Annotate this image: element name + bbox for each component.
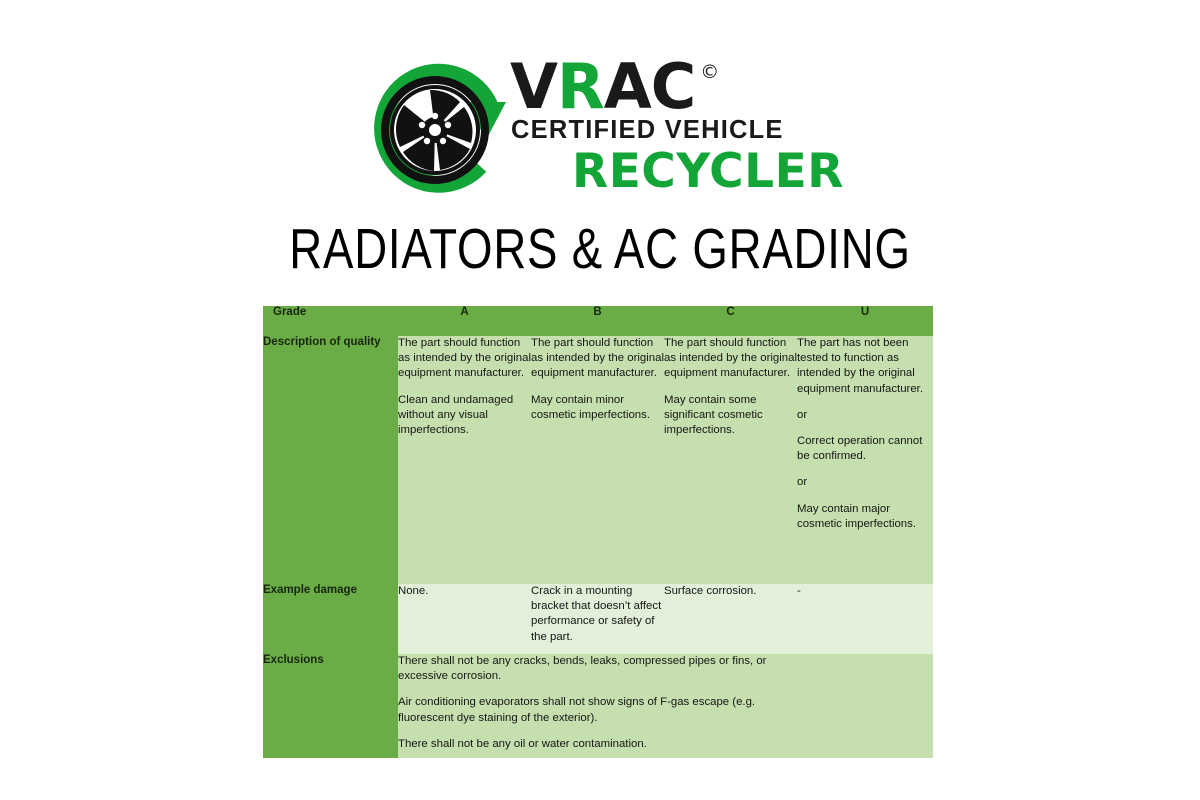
- cell-description-u: The part has not been tested to function…: [797, 336, 933, 584]
- cell-paragraph: Correct operation cannot be confirmed.: [797, 434, 933, 464]
- cell-paragraph: The part has not been tested to function…: [797, 336, 933, 397]
- cell-paragraph: Air conditioning evaporators shall not s…: [398, 695, 797, 725]
- cell-paragraph: May contain minor cosmetic imperfections…: [531, 393, 664, 423]
- logo-letter-r: R: [557, 50, 604, 123]
- brand-logo: VRAC © CERTIFIED VEHICLE RECYCLER: [0, 58, 1200, 198]
- column-header-u: U: [797, 306, 933, 336]
- logo-letter-v: V: [510, 50, 557, 123]
- logo-wordmark: VRAC ©: [510, 56, 719, 118]
- logo-recycler-word: RECYCLER: [572, 144, 844, 199]
- cell-example-u: -: [797, 584, 933, 654]
- copyright-icon: ©: [700, 61, 719, 83]
- cell-paragraph: Clean and undamaged without any visual i…: [398, 393, 531, 439]
- cell-description-a: The part should function as intended by …: [398, 336, 531, 584]
- cell-paragraph: There shall not be any oil or water cont…: [398, 737, 797, 752]
- logo-letter-c: C: [651, 50, 696, 123]
- column-header-c: C: [664, 306, 797, 336]
- cell-paragraph: -: [797, 584, 933, 599]
- cell-example-a: None.: [398, 584, 531, 654]
- cell-paragraph: or: [797, 408, 933, 423]
- column-header-a: A: [398, 306, 531, 336]
- wheel-recycle-arrow-icon: [372, 62, 508, 194]
- grading-table: Grade A B C U Description of quality The…: [263, 306, 933, 758]
- cell-paragraph: The part should function as intended by …: [664, 336, 797, 382]
- row-label-exclusions: Exclusions: [263, 654, 398, 758]
- table-header-row: Grade A B C U: [263, 306, 933, 336]
- cell-exclusions-u: [797, 654, 933, 758]
- cell-description-b: The part should function as intended by …: [531, 336, 664, 584]
- cell-paragraph: or: [797, 475, 933, 490]
- cell-paragraph: Crack in a mounting bracket that doesn’t…: [531, 584, 664, 645]
- logo-tagline: CERTIFIED VEHICLE: [511, 116, 784, 145]
- page-title: RADIATORS & AC GRADING: [120, 218, 1080, 280]
- cell-paragraph: The part should function as intended by …: [398, 336, 531, 382]
- column-header-b: B: [531, 306, 664, 336]
- table-row-exclusions: Exclusions There shall not be any cracks…: [263, 654, 933, 758]
- row-label-example-damage: Example damage: [263, 584, 398, 654]
- table-row-example-damage: Example damage None. Crack in a mounting…: [263, 584, 933, 654]
- cell-example-b: Crack in a mounting bracket that doesn’t…: [531, 584, 664, 654]
- cell-paragraph: May contain major cosmetic imperfections…: [797, 502, 933, 532]
- cell-paragraph: The part should function as intended by …: [531, 336, 664, 382]
- row-label-description-of-quality: Description of quality: [263, 336, 398, 584]
- cell-paragraph: Surface corrosion.: [664, 584, 797, 599]
- cell-example-c: Surface corrosion.: [664, 584, 797, 654]
- table-row-description-of-quality: Description of quality The part should f…: [263, 336, 933, 584]
- column-header-grade: Grade: [263, 306, 398, 336]
- cell-description-c: The part should function as intended by …: [664, 336, 797, 584]
- logo-letter-a: A: [604, 50, 651, 123]
- cell-paragraph: There shall not be any cracks, bends, le…: [398, 654, 797, 684]
- cell-paragraph: None.: [398, 584, 531, 599]
- cell-paragraph: May contain some significant cosmetic im…: [664, 393, 797, 439]
- cell-exclusions-abc: There shall not be any cracks, bends, le…: [398, 654, 797, 758]
